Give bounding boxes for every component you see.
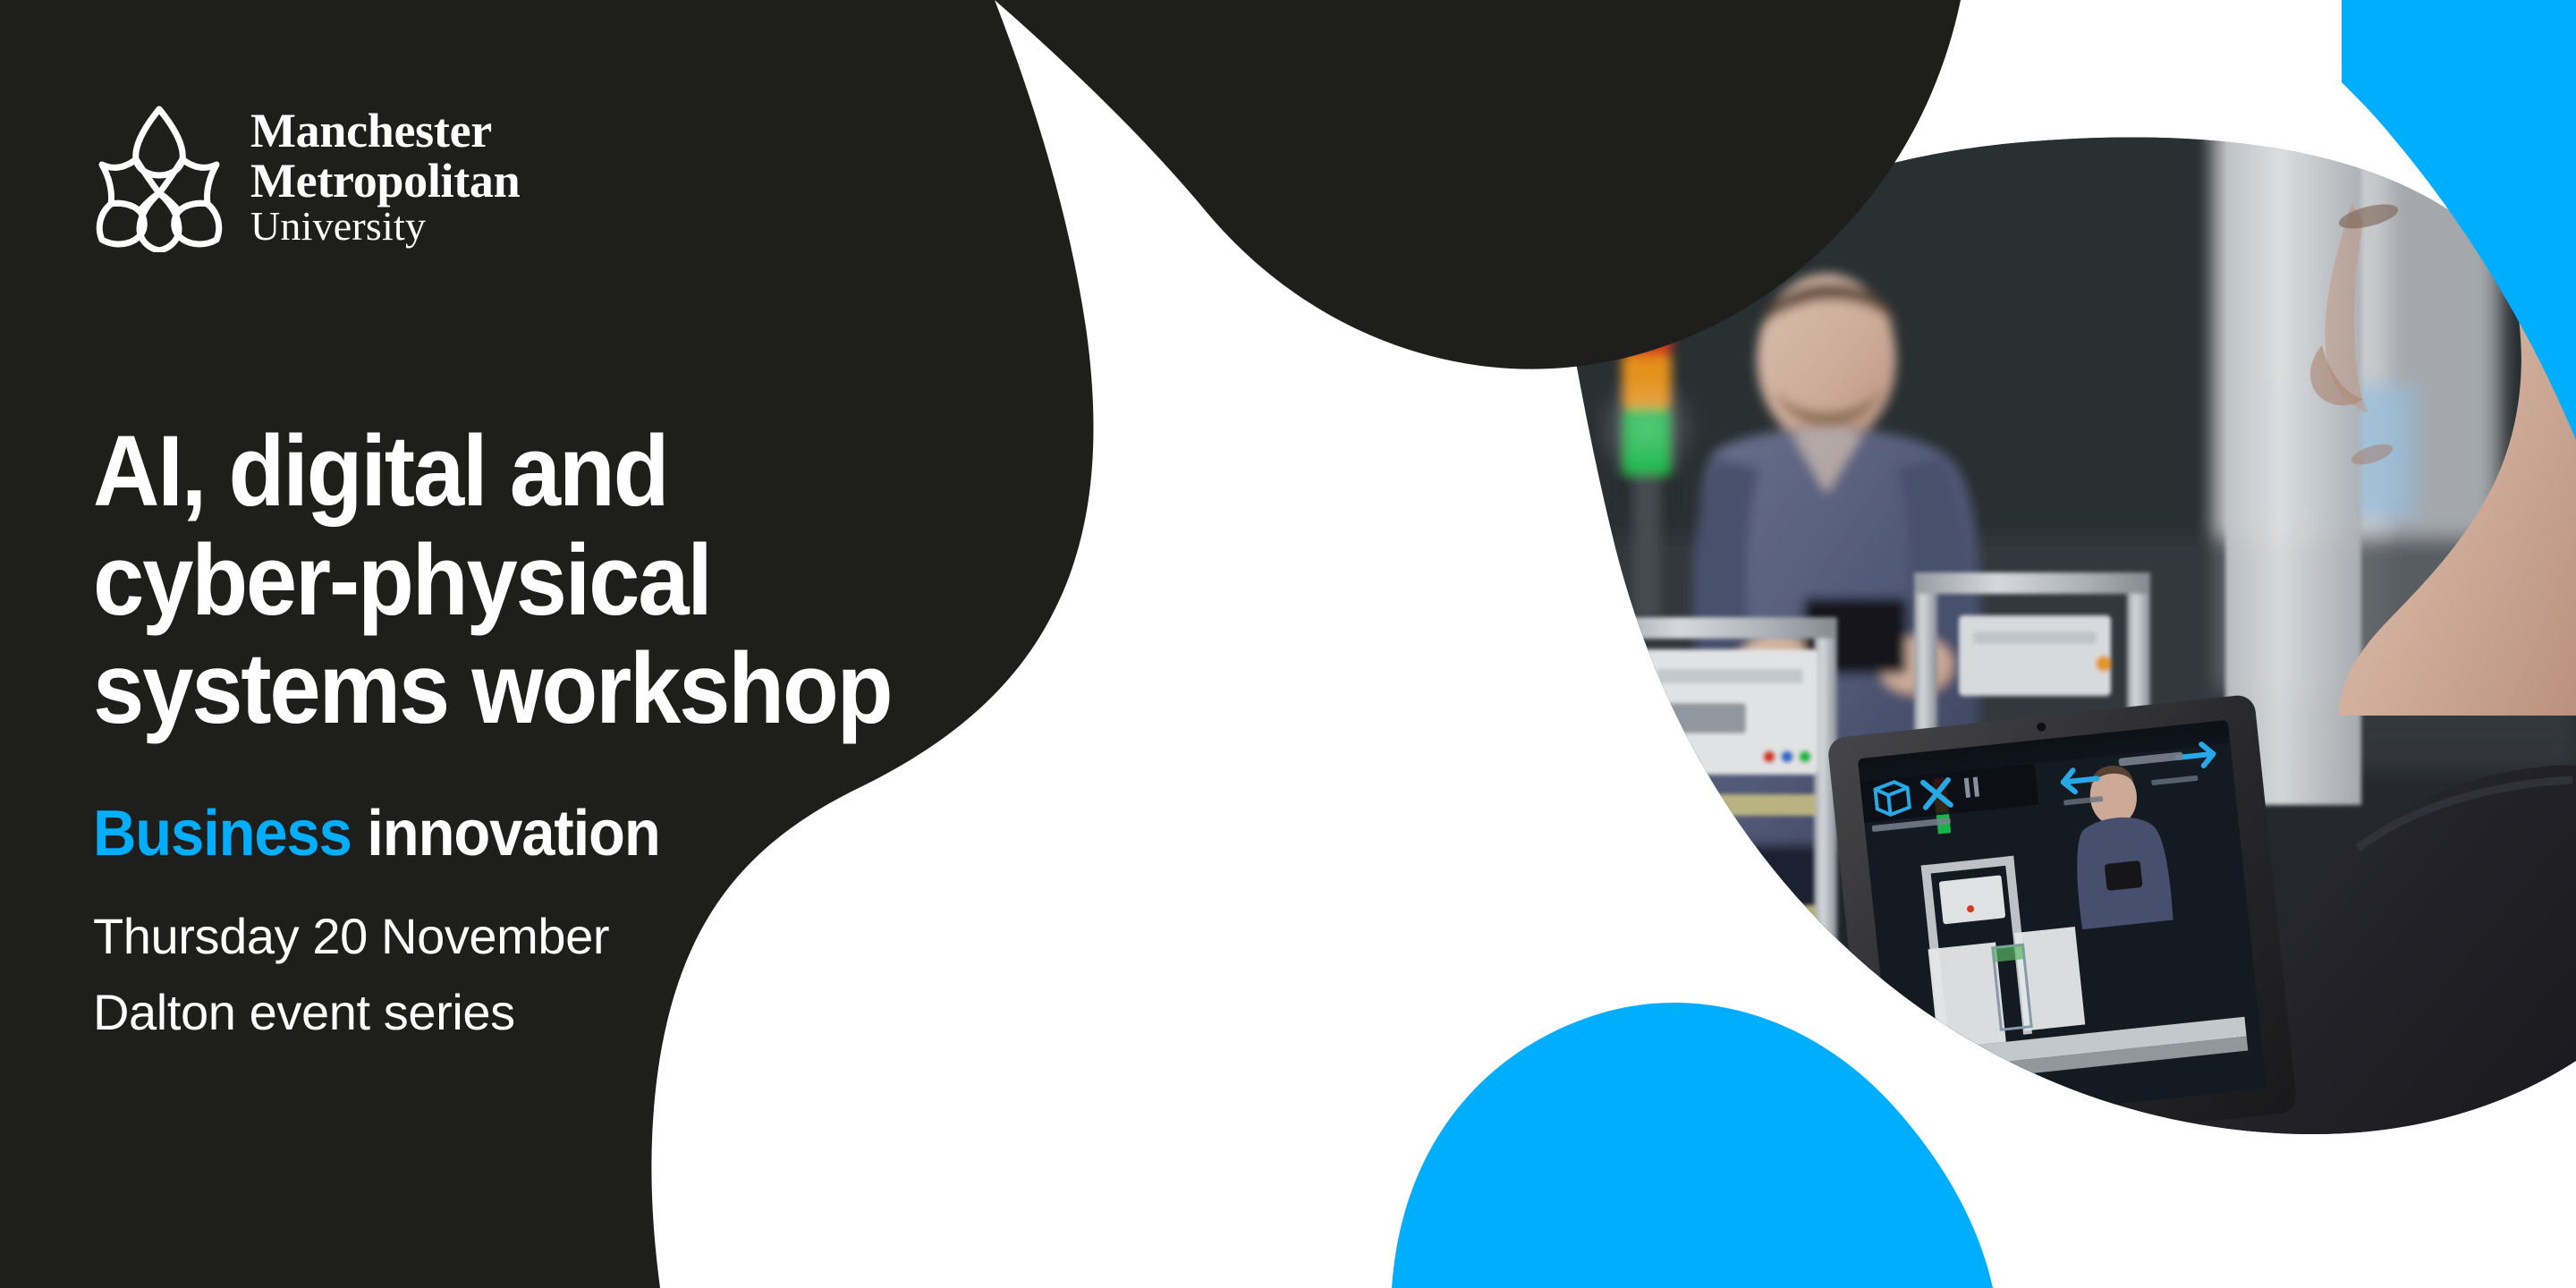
logo-wordmark: Manchester Metropolitan University — [250, 106, 520, 247]
event-banner: Manchester Metropolitan University AI, d… — [0, 0, 2576, 1288]
logo-line-1: Manchester — [250, 106, 520, 156]
page-title: AI, digital and cyber-physical systems w… — [93, 417, 924, 743]
title-line-3: systems workshop — [93, 634, 924, 743]
subtitle: Business innovation — [93, 799, 938, 869]
event-series: Dalton event series — [93, 974, 609, 1050]
event-date: Thursday 20 November — [93, 898, 609, 974]
title-line-1: AI, digital and — [93, 417, 924, 526]
title-line-2: cyber-physical — [93, 526, 924, 635]
logo-line-3: University — [250, 206, 520, 248]
subtitle-accent: Business — [93, 798, 352, 869]
logo-line-2: Metropolitan — [250, 157, 520, 206]
university-logo[interactable]: Manchester Metropolitan University — [93, 97, 1002, 258]
subtitle-rest: innovation — [352, 798, 660, 869]
event-meta: Thursday 20 November Dalton event series — [93, 898, 609, 1050]
mmu-flower-logo-icon — [93, 102, 225, 252]
